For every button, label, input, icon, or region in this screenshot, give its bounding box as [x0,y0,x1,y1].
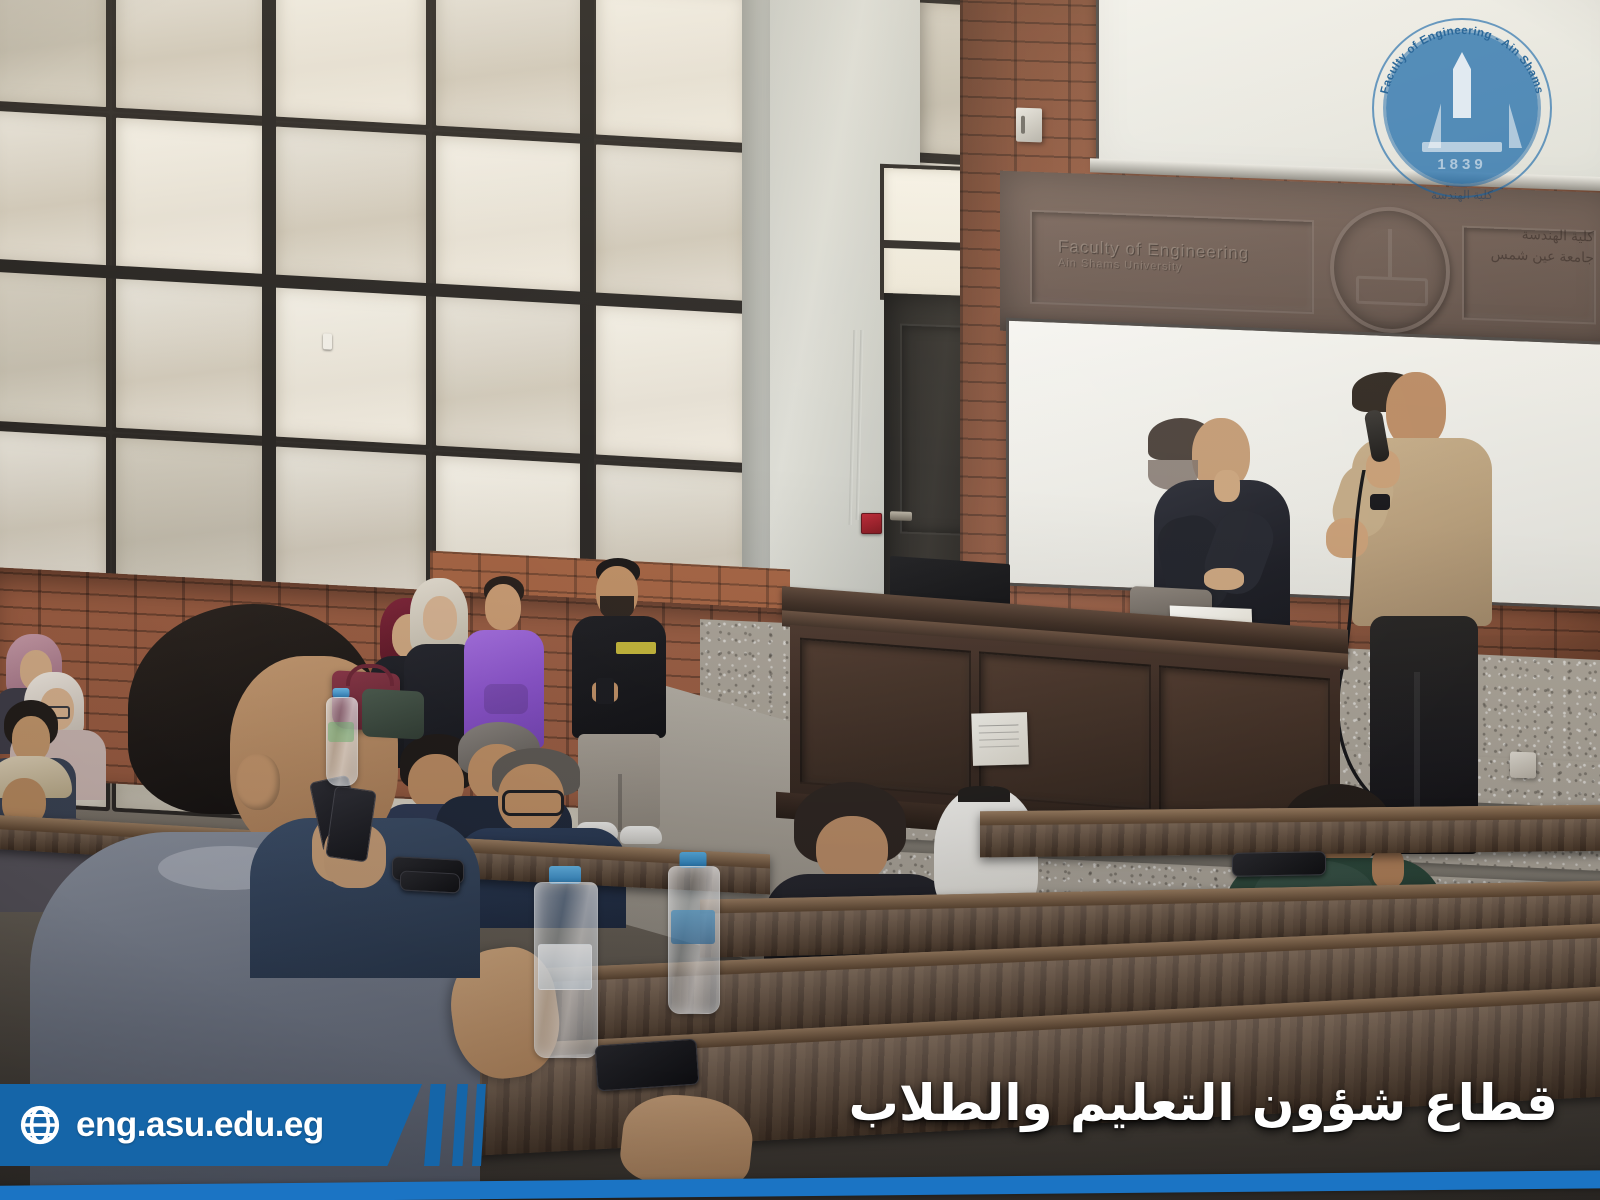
window-pane [116,278,266,436]
mobile-phone-on-desk[interactable] [1232,851,1326,877]
seal-arabic-caption: كلية الهندسة [1372,188,1552,202]
window-pane [0,430,106,587]
eyeglasses [502,790,564,816]
bottle-label [328,722,354,742]
projection-screen-main [1006,318,1600,611]
window-pane [596,144,746,302]
window-pane [596,304,746,462]
head [816,816,888,882]
face [485,584,521,630]
window-pane [116,438,266,596]
hair-edge [958,786,1010,802]
leg-split [618,774,622,832]
window-pane [116,118,266,276]
backpack [362,688,424,739]
gesturing-hand [1326,518,1368,558]
head [1386,372,1446,448]
folded-hand [1204,568,1244,590]
window-pane [0,270,106,427]
hoodie-pocket [484,684,528,714]
lecture-bench-desk [980,805,1600,858]
window-pane [436,136,586,294]
plaque-arabic-text: كلية الهندسة جامعة عين شمس [1491,223,1594,269]
window-pane [276,447,426,605]
window-pane [116,0,266,116]
water-bottle [326,688,356,784]
tablet-on-desk[interactable] [400,870,460,893]
taped-paper-notice [971,712,1029,766]
seal-arc-text: Faculty of Engineering - Ain Shams [1372,18,1552,198]
wall-socket [1510,752,1536,779]
door-handle[interactable] [890,511,912,521]
water-bottle [534,866,596,1056]
plaque-arabic-line-2: جامعة عين شمس [1491,244,1594,269]
plaque-seal-relief [1330,205,1450,335]
window-pane [0,0,106,107]
bottle-label [538,944,593,990]
podium-panel [800,638,971,797]
window-pane [276,127,426,285]
seal-arc-label: Faculty of Engineering - Ain Shams [1379,25,1545,95]
mobile-phone [596,678,614,704]
window-pane [276,0,426,125]
university-seal-watermark: 1839 Faculty of Engineering - Ain Shams … [1372,18,1552,198]
lecture-hall-photo: Faculty of Engineering Ain Shams Univers… [0,0,1600,1200]
black-hoodie [572,616,666,738]
window-latch [323,333,332,350]
hand-on-chin [1214,470,1240,502]
window-pane [0,110,106,267]
water-bottle [668,852,718,1012]
window-pane [436,296,586,454]
hoodie-print [616,642,656,654]
window-pane [276,287,426,445]
wristwatch [1370,494,1390,510]
mobile-phone-on-desk[interactable] [595,1038,700,1091]
window-pane [436,0,586,134]
bottle-label [671,910,715,944]
fire-alarm-pull-station[interactable] [861,513,882,534]
wall-speaker-box [1016,108,1042,143]
window-pane [596,0,746,143]
sneaker [620,826,662,844]
hand-on-head [1372,848,1404,888]
